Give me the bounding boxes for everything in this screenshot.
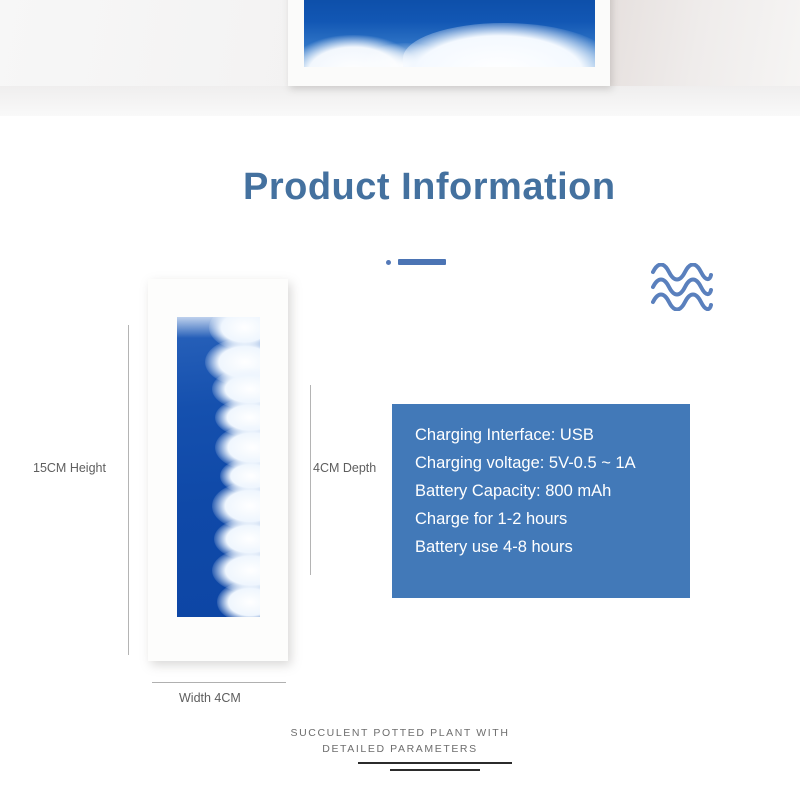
accent-bar-icon <box>398 259 446 265</box>
spec-item: Battery Capacity: 800 mAh <box>415 477 680 505</box>
product-photo <box>148 279 288 661</box>
height-measure-line <box>128 325 129 655</box>
banner-lamp-sky <box>304 0 595 67</box>
width-measure-label: Width 4CM <box>179 691 241 705</box>
footer-rule-top <box>358 762 512 764</box>
width-measure-line <box>152 682 286 683</box>
banner-wall-shadow <box>0 86 800 116</box>
spec-item: Charging Interface: USB <box>415 421 680 449</box>
spec-item: Charging voltage: 5V-0.5 ~ 1A <box>415 449 680 477</box>
spec-item: Charge for 1-2 hours <box>415 505 680 533</box>
footer-caption: SUCCULENT POTTED PLANT WITH DETAILED PAR… <box>0 725 800 757</box>
product-sky-panel <box>177 317 260 617</box>
banner-cloud-right <box>403 23 595 67</box>
depth-measure-label: 4CM Depth <box>313 461 376 475</box>
banner-lamp-frame <box>288 0 610 86</box>
top-banner-photo <box>0 0 800 116</box>
page-title: Product Information <box>243 166 616 209</box>
footer-rule-bottom <box>390 769 480 771</box>
spec-item: Battery use 4-8 hours <box>415 533 680 561</box>
title-accent-divider <box>386 259 446 265</box>
depth-measure-line <box>310 385 311 575</box>
footer-caption-line-2: DETAILED PARAMETERS <box>0 741 800 757</box>
specifications-list: Charging Interface: USB Charging voltage… <box>415 421 680 561</box>
waves-icon <box>651 263 713 311</box>
specifications-box: Charging Interface: USB Charging voltage… <box>392 404 690 598</box>
accent-dot-icon <box>386 260 391 265</box>
footer-caption-line-1: SUCCULENT POTTED PLANT WITH <box>0 725 800 741</box>
height-measure-label: 15CM Height <box>33 461 106 475</box>
